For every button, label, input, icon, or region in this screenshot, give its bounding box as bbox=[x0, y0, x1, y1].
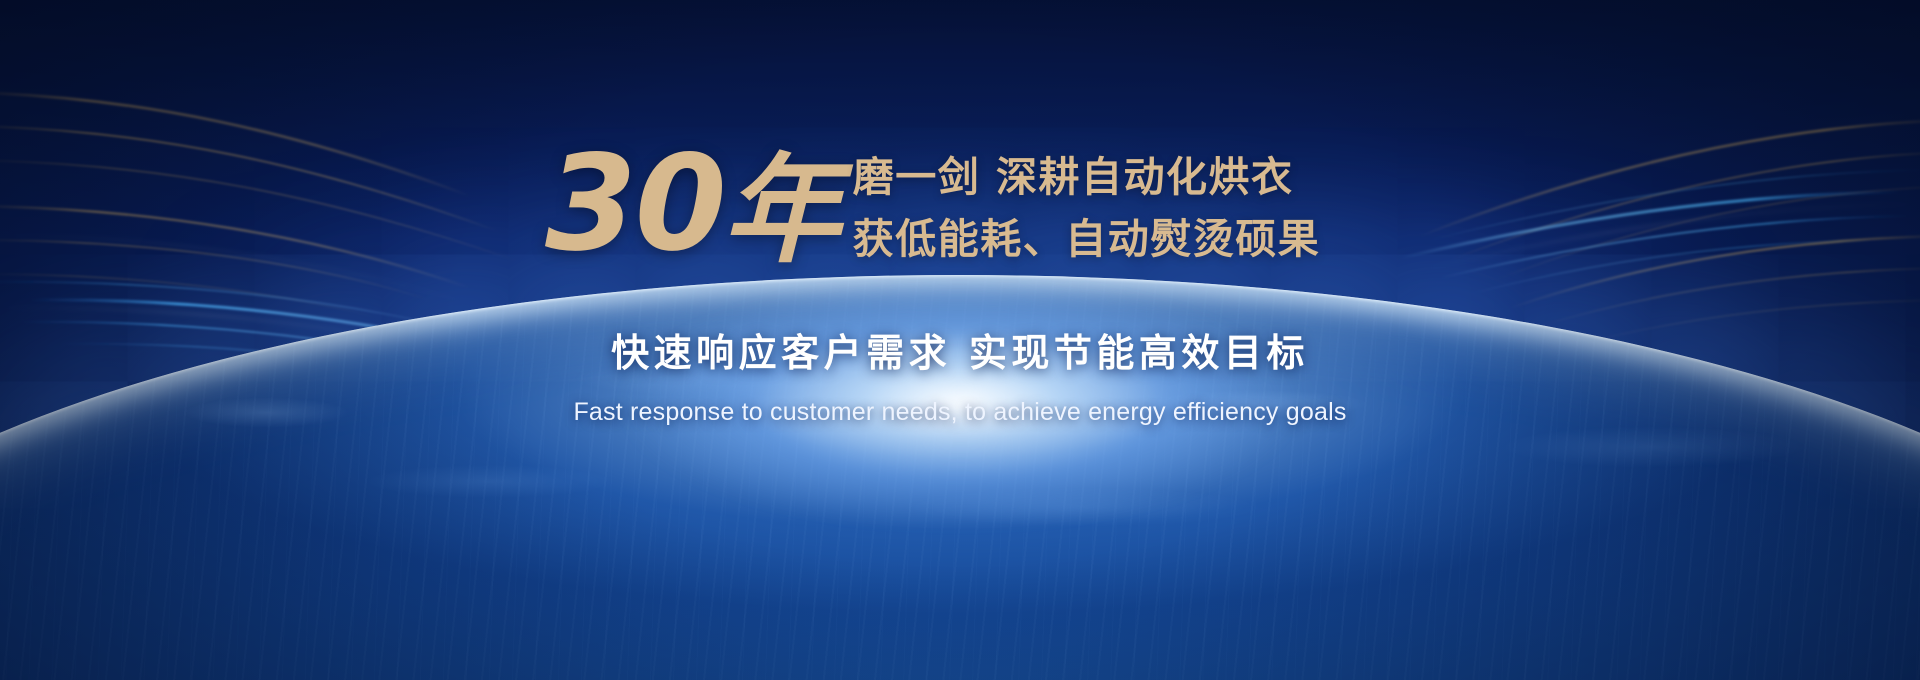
subheadline-chinese: 快速响应客户需求 实现节能高效目标 bbox=[0, 322, 1920, 377]
top-shade-overlay bbox=[0, 0, 1920, 240]
headline-row: 30 年 磨一剑 深耕自动化烘衣 获低能耗、自动熨烫硕果 bbox=[545, 140, 1320, 276]
earth-horizon-graphic bbox=[0, 275, 1920, 680]
gold-tagline-line-2: 获低能耗、自动熨烫硕果 bbox=[853, 208, 1321, 270]
promo-banner: 30 年 磨一剑 深耕自动化烘衣 获低能耗、自动熨烫硕果 快速响应客户需求 实现… bbox=[0, 0, 1920, 680]
banner-text-block: 30 年 磨一剑 深耕自动化烘衣 获低能耗、自动熨烫硕果 快速响应客户需求 实现… bbox=[0, 0, 1920, 680]
light-streaks-decoration bbox=[0, 0, 1920, 680]
gold-tagline-group: 磨一剑 深耕自动化烘衣 获低能耗、自动熨烫硕果 bbox=[853, 146, 1321, 271]
subheadline-english: Fast response to customer needs, to achi… bbox=[0, 398, 1920, 427]
gold-tagline-line-1: 磨一剑 深耕自动化烘衣 bbox=[853, 146, 1321, 208]
earth-center-glow bbox=[510, 205, 1410, 535]
earth-surface-texture bbox=[0, 275, 1920, 680]
earth-sphere bbox=[0, 275, 1920, 680]
earth-atmosphere-rim bbox=[0, 275, 1920, 680]
vignette-overlay bbox=[0, 0, 1920, 680]
years-unit-character: 年 bbox=[723, 146, 841, 276]
years-number: 30 bbox=[545, 140, 725, 269]
